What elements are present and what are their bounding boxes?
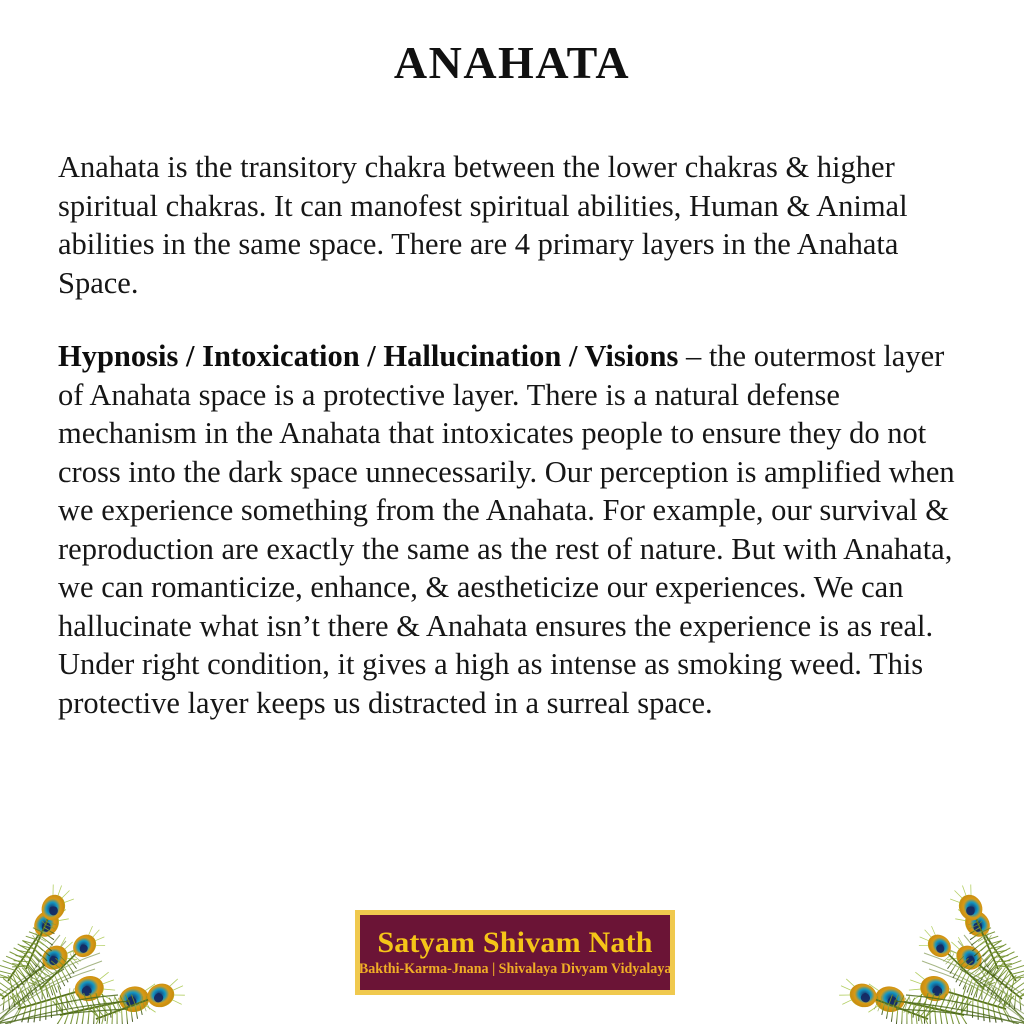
- brand-logo: Satyam Shivam Nath Bakthi-Karma-Jnana | …: [355, 910, 675, 995]
- peacock-feather-decoration-right: [824, 849, 1024, 1024]
- paragraph-intro: Anahata is the transitory chakra between…: [58, 148, 963, 302]
- paragraph-layer-one-text: – the outermost layer of Anahata space i…: [58, 339, 955, 720]
- poster-page: ANAHATA Anahata is the transitory chakra…: [0, 0, 1024, 1024]
- paragraph-layer-one: Hypnosis / Intoxication / Hallucination …: [58, 337, 963, 722]
- peacock-feather-decoration-left: [0, 849, 200, 1024]
- body-content: Anahata is the transitory chakra between…: [58, 148, 963, 722]
- paragraph-intro-text: Anahata is the transitory chakra between…: [58, 150, 908, 300]
- peacock-feather-icon: [0, 849, 200, 1024]
- page-title: ANAHATA: [0, 36, 1024, 89]
- brand-name: Satyam Shivam Nath: [377, 927, 652, 959]
- brand-tagline: Bakthi-Karma-Jnana | Shivalaya Divyam Vi…: [359, 962, 672, 978]
- paragraph-layer-one-lead: Hypnosis / Intoxication / Hallucination …: [58, 339, 678, 373]
- peacock-feather-icon: [824, 849, 1024, 1024]
